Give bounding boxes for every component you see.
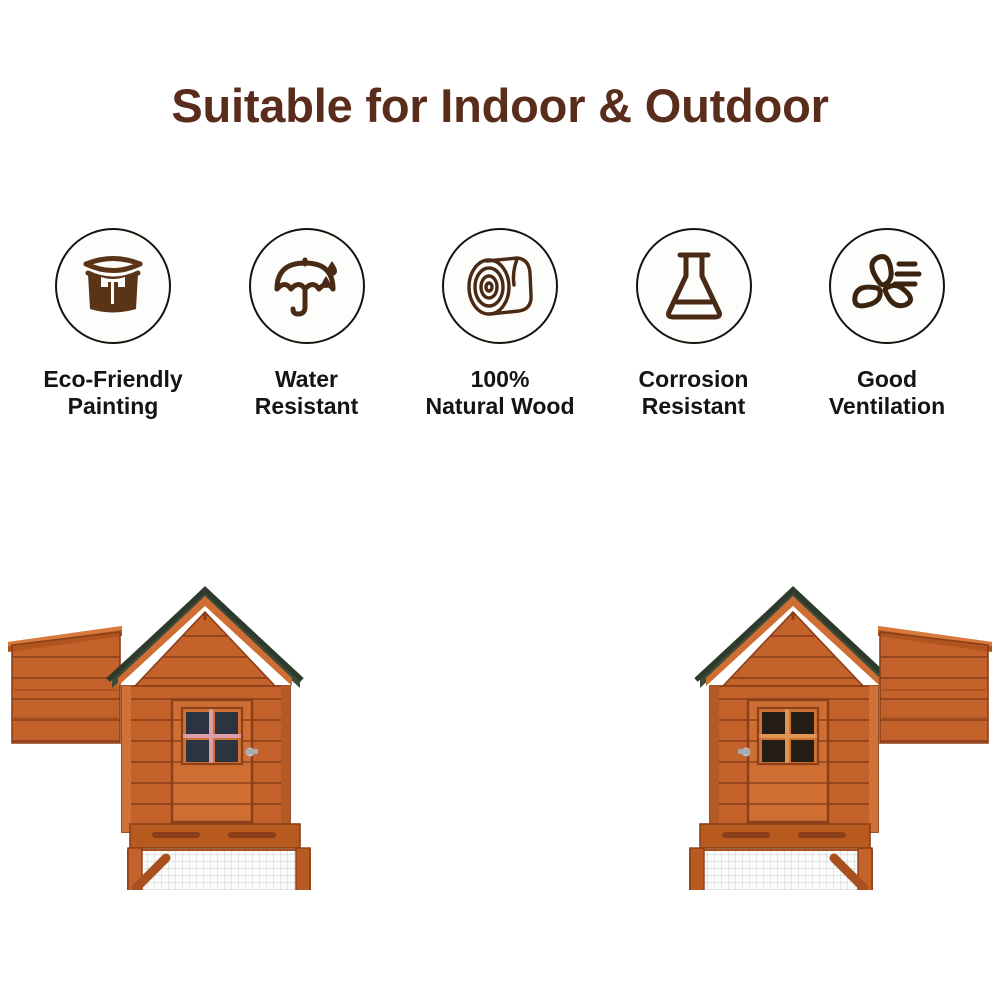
fan-icon	[848, 252, 926, 320]
feature-list: Eco-Friendly Painting	[20, 228, 980, 438]
page-title: Suitable for Indoor & Outdoor	[0, 78, 1000, 133]
product-image-chicken-coop	[0, 490, 1000, 890]
feature-icon-circle	[249, 228, 365, 344]
feature-icon-circle	[829, 228, 945, 344]
nesting-box-right	[878, 626, 992, 743]
umbrella-icon	[269, 251, 345, 321]
feature-water-resistant: Water Resistant	[214, 228, 400, 420]
feature-eco-friendly-painting: Eco-Friendly Painting	[20, 228, 206, 420]
wood-log-icon	[461, 253, 539, 319]
run-left	[128, 848, 310, 890]
nesting-box-left	[8, 626, 122, 743]
run-right	[690, 848, 872, 890]
feature-corrosion-resistant: Corrosion Resistant	[601, 228, 787, 420]
feature-icon-circle	[442, 228, 558, 344]
feature-label: Water Resistant	[255, 366, 359, 420]
feature-label: Corrosion Resistant	[639, 366, 749, 420]
feature-icon-circle	[636, 228, 752, 344]
paint-bucket-icon	[77, 251, 149, 321]
feature-label: Good Ventilation	[829, 366, 945, 420]
feature-icon-circle	[55, 228, 171, 344]
feature-label: 100% Natural Wood	[425, 366, 574, 420]
feature-natural-wood: 100% Natural Wood	[407, 228, 593, 420]
flask-icon	[662, 250, 726, 322]
infographic-page: Suitable for Indoor & Outdoor	[0, 0, 1000, 1000]
feature-label: Eco-Friendly Painting	[43, 366, 182, 420]
feature-good-ventilation: Good Ventilation	[794, 228, 980, 420]
